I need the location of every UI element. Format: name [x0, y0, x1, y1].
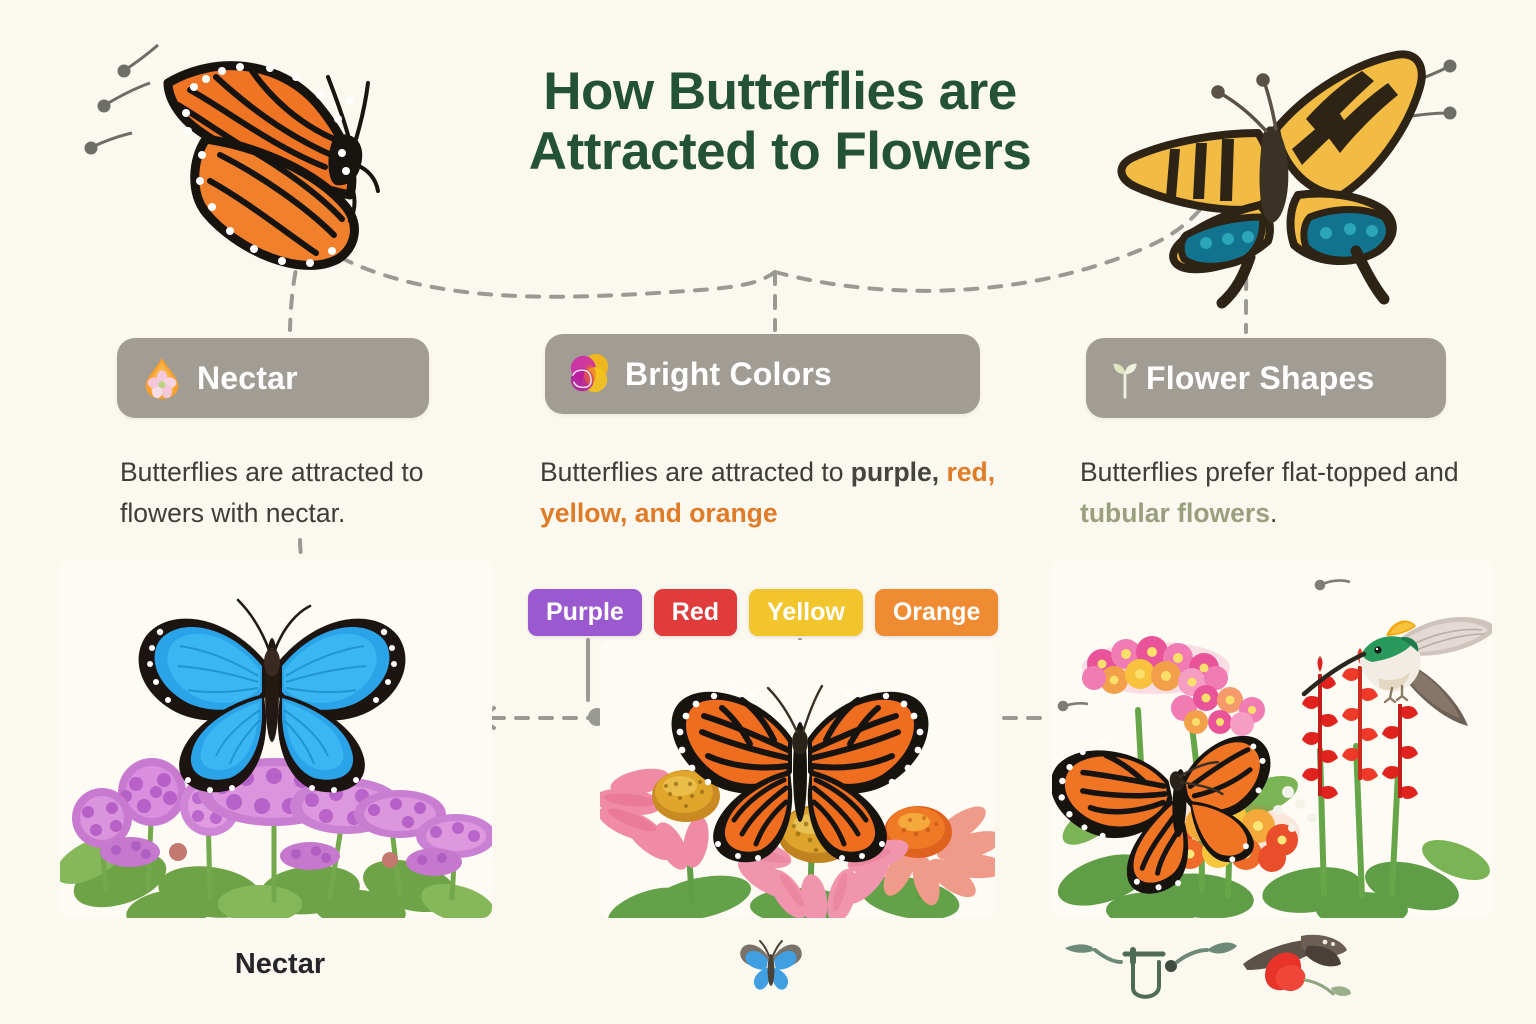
- color-chip-orange-label: Orange: [893, 598, 981, 627]
- infographic-canvas: How Butterflies are Attracted to Flowers…: [0, 0, 1536, 1024]
- color-chip-yellow[interactable]: Yellow: [749, 589, 863, 636]
- badge-nectar[interactable]: Nectar: [117, 338, 429, 418]
- panel-bright-colors-image: [600, 640, 995, 918]
- color-chip-purple[interactable]: Purple: [528, 589, 642, 636]
- color-chip-yellow-label: Yellow: [767, 598, 845, 627]
- badge-bright-colors[interactable]: Bright Colors: [545, 334, 980, 414]
- panel-nectar-image: [60, 560, 492, 918]
- description-nectar-text: Butterflies are attracted to flowers wit…: [120, 457, 423, 528]
- description-nectar: Butterflies are attracted to flowers wit…: [120, 452, 490, 534]
- description-flower-shapes: Butterflies prefer flat-topped and tubul…: [1080, 452, 1530, 534]
- color-chip-red-label: Red: [672, 598, 719, 627]
- blue-butterfly-icon: [735, 936, 807, 998]
- badge-bright-colors-label: Bright Colors: [625, 356, 832, 393]
- color-chip-red[interactable]: Red: [654, 589, 737, 636]
- lantana-salvia-hummingbird-illustration: [1052, 560, 1492, 918]
- tubular-flower-sketch-icon: [1055, 930, 1355, 1000]
- badge-flower-shapes[interactable]: Flower Shapes: [1086, 338, 1446, 418]
- description-colors-lead: Butterflies are attracted to: [540, 457, 851, 487]
- blue-morpho-on-verbena-illustration: [60, 560, 492, 918]
- color-circles-icon: [567, 351, 613, 397]
- description-bright-colors: Butterflies are attracted to purple, red…: [540, 452, 1030, 534]
- color-chip-group: Purple Red Yellow Orange: [528, 589, 998, 636]
- description-shapes-lead: Butterflies prefer flat-topped and: [1080, 457, 1459, 487]
- monarch-on-coneflowers-illustration: [600, 640, 995, 918]
- color-chip-purple-label: Purple: [546, 598, 624, 627]
- caption-nectar: Nectar: [120, 948, 440, 981]
- description-shapes-tubular: tubular flowers: [1080, 498, 1270, 528]
- title-line-2: Attracted to Flowers: [440, 122, 1120, 182]
- badge-nectar-label: Nectar: [197, 360, 298, 397]
- description-shapes-tail: .: [1270, 498, 1277, 528]
- description-colors-purple: purple,: [851, 457, 939, 487]
- page-title: How Butterflies are Attracted to Flowers: [440, 62, 1120, 183]
- badge-flower-shapes-label: Flower Shapes: [1146, 360, 1374, 397]
- color-chip-orange[interactable]: Orange: [875, 589, 999, 636]
- panel-flower-shapes-image: [1052, 560, 1492, 918]
- title-line-1: How Butterflies are: [543, 62, 1017, 121]
- nectar-droplet-icon: [139, 355, 185, 401]
- seedling-sprout-icon: [1108, 355, 1142, 401]
